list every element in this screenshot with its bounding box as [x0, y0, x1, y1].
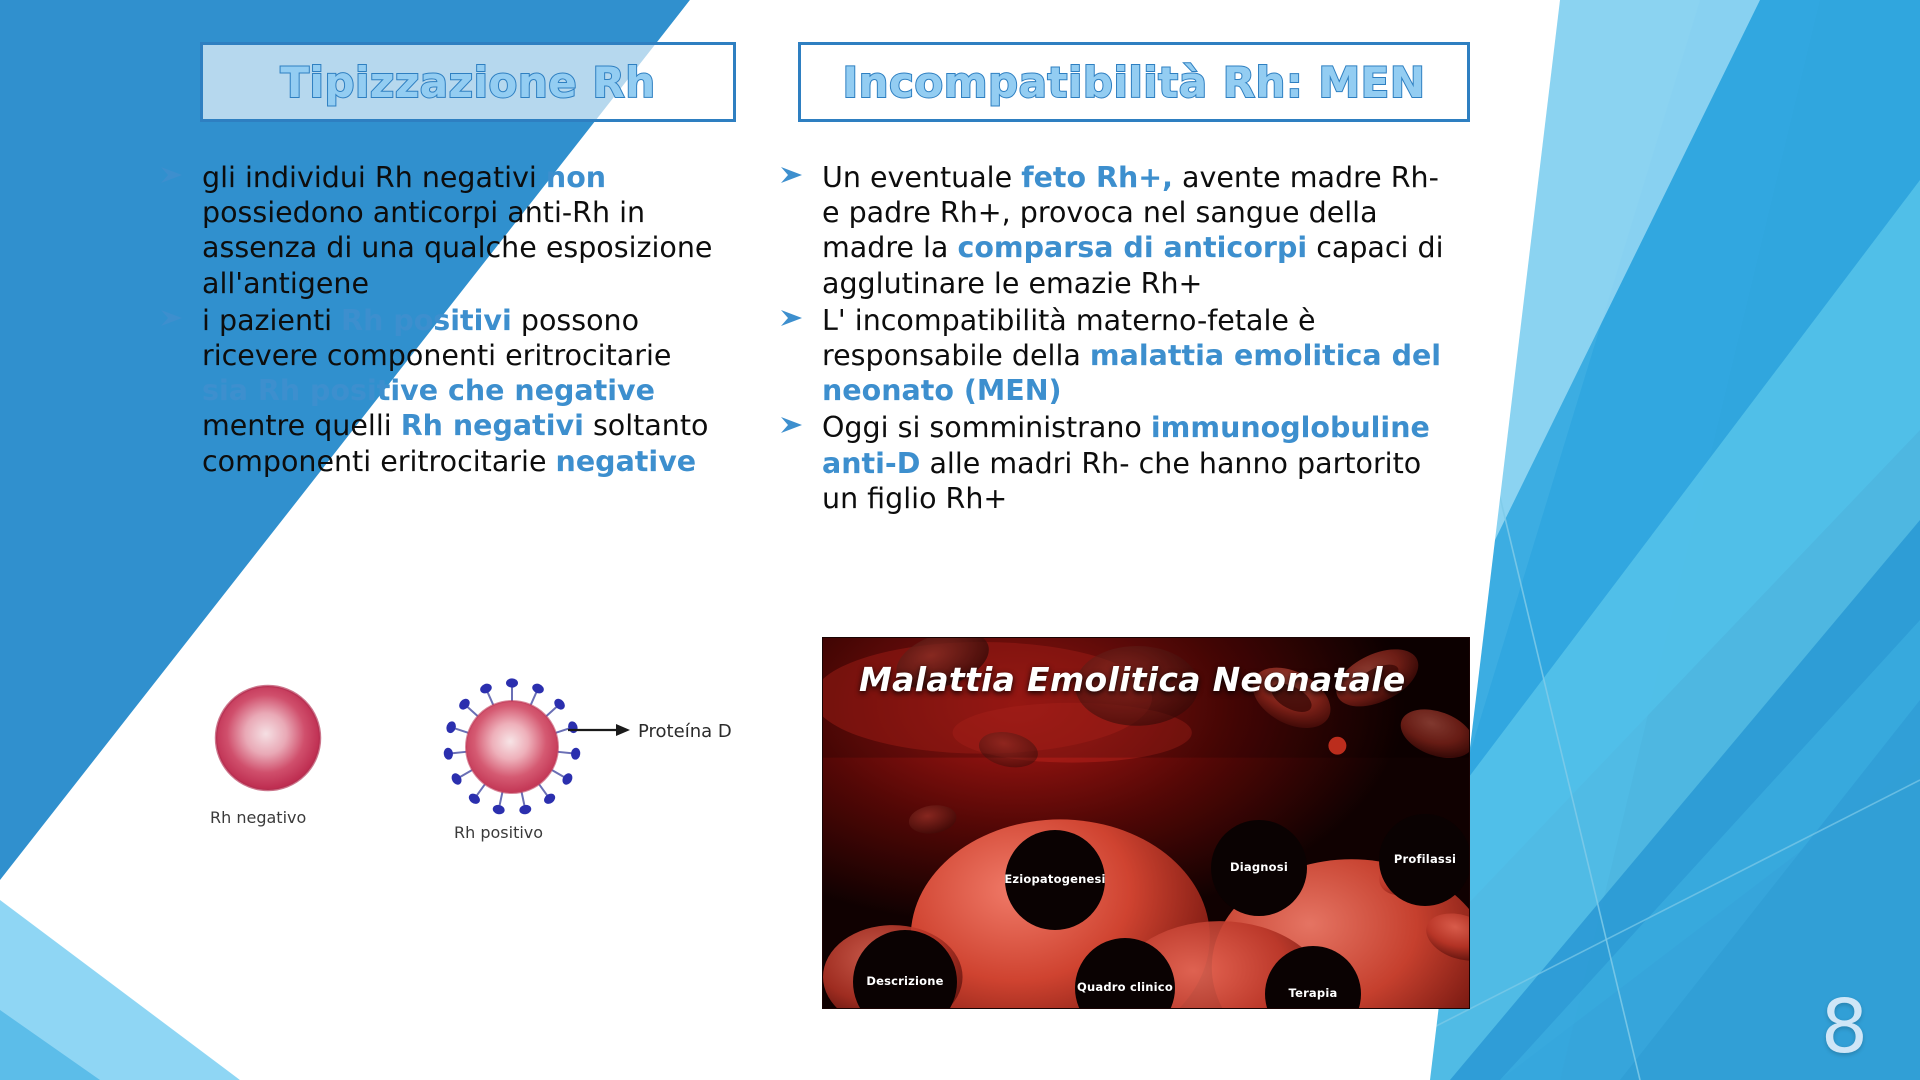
- rh-negative-figure: Rh negativo: [208, 680, 328, 827]
- men-node-label: Descrizione: [866, 975, 943, 988]
- highlight-text: non: [546, 161, 606, 194]
- list-item: L' incompatibilità materno-fetale è resp…: [780, 303, 1460, 409]
- men-node-label: Diagnosi: [1230, 861, 1288, 874]
- body-text: gli individui Rh negativi: [202, 161, 546, 194]
- rh-positive-figure: Proteína D Rh positivo: [440, 675, 740, 842]
- men-node-diagnosi: Diagnosi: [1211, 820, 1307, 916]
- bullet-text-r1: Un eventuale feto Rh+, avente madre Rh- …: [822, 160, 1460, 301]
- body-text: mentre quelli: [202, 409, 401, 442]
- rh-negative-caption: Rh negativo: [210, 808, 328, 827]
- page-title-left: Tipizzazione Rh: [280, 58, 655, 107]
- highlight-text: Rh positivi: [341, 304, 512, 337]
- men-image: Malattia Emolitica Neonatale Eziopatogen…: [822, 637, 1470, 1009]
- arrow-bullet-icon-svg: [780, 165, 806, 185]
- list-item: Oggi si somministrano immunoglobuline an…: [780, 410, 1460, 516]
- arrow-right-icon: [568, 724, 630, 736]
- highlight-text: negative: [556, 445, 697, 478]
- right-bullet-column: Un eventuale feto Rh+, avente madre Rh- …: [780, 160, 1460, 518]
- list-item: gli individui Rh negativi non possiedono…: [160, 160, 720, 301]
- left-bullet-column: gli individui Rh negativi non possiedono…: [160, 160, 720, 481]
- men-node-eziopatogenesi: Eziopatogenesi: [1005, 830, 1105, 930]
- body-text: i pazienti: [202, 304, 341, 337]
- list-item: Un eventuale feto Rh+, avente madre Rh- …: [780, 160, 1460, 301]
- arrow-bullet-icon: [780, 410, 822, 435]
- arrow-bullet-icon-svg: [780, 415, 806, 435]
- bullet-text-r2: L' incompatibilità materno-fetale è resp…: [822, 303, 1460, 409]
- page-title-right: Incompatibilità Rh: MEN: [842, 58, 1425, 107]
- proteina-d-label: Proteína D: [638, 721, 732, 742]
- men-node-label: Eziopatogenesi: [1004, 873, 1105, 886]
- bullet-text-l2: i pazienti Rh positivi possono ricevere …: [202, 303, 720, 479]
- arrow-bullet-icon-svg: [160, 165, 186, 185]
- red-blood-cell-with-antigens-icon: Proteína D: [440, 675, 740, 815]
- slide-canvas: Tipizzazione Rh Incompatibilità Rh: MEN …: [0, 0, 1920, 1080]
- body-text: possiedono anticorpi anti-Rh in assenza …: [202, 196, 712, 299]
- arrow-bullet-icon: [780, 160, 822, 185]
- arrow-bullet-icon-svg: [160, 308, 186, 328]
- bullet-text-l1: gli individui Rh negativi non possiedono…: [202, 160, 720, 301]
- men-node-label: Quadro clinico: [1077, 981, 1173, 994]
- men-image-title: Malattia Emolitica Neonatale: [859, 660, 1406, 699]
- body-text: Oggi si somministrano: [822, 411, 1151, 444]
- rbc-illustration-group: Rh negativo: [190, 675, 750, 895]
- arrow-bullet-icon-svg: [780, 308, 806, 328]
- arrow-bullet-icon: [160, 160, 202, 185]
- men-node-label: Terapia: [1289, 987, 1338, 1000]
- title-box-right: Incompatibilità Rh: MEN: [798, 42, 1470, 122]
- arrow-bullet-icon: [780, 303, 822, 328]
- arrow-bullet-icon: [160, 303, 202, 328]
- list-item: i pazienti Rh positivi possono ricevere …: [160, 303, 720, 479]
- bullet-text-r3: Oggi si somministrano immunoglobuline an…: [822, 410, 1460, 516]
- men-node-label: Profilassi: [1394, 853, 1456, 866]
- body-text: Un eventuale: [822, 161, 1021, 194]
- page-number: 8: [1821, 990, 1868, 1064]
- rh-positive-caption: Rh positivo: [454, 823, 740, 842]
- highlight-text: feto Rh+,: [1021, 161, 1173, 194]
- highlight-text: sia Rh positive che negative: [202, 374, 655, 407]
- title-box-left: Tipizzazione Rh: [200, 42, 736, 122]
- highlight-text: comparsa di anticorpi: [957, 231, 1307, 264]
- red-blood-cell-icon: [208, 680, 328, 798]
- highlight-text: Rh negativi: [401, 409, 584, 442]
- men-node-profilassi: Profilassi: [1379, 814, 1470, 906]
